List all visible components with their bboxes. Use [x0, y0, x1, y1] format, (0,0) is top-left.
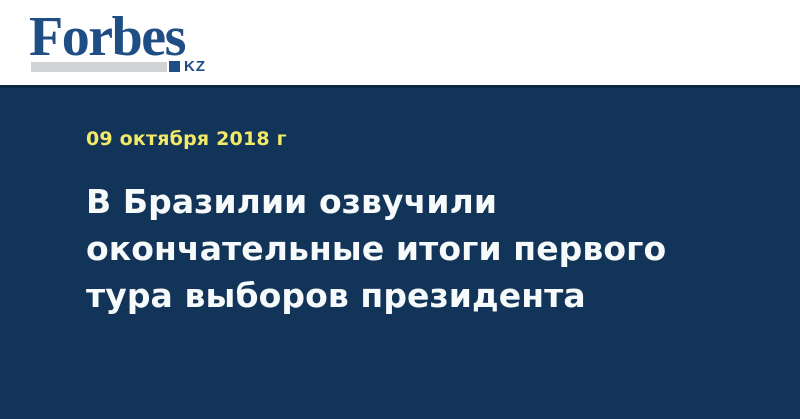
article-hero-page: Forbes KZ 09 октября 2018 г В Бразилии о… — [0, 0, 800, 419]
blue-square-icon — [169, 61, 180, 72]
forbes-kz-logo[interactable]: Forbes KZ — [29, 9, 229, 77]
logo-kz-suffix: KZ — [184, 59, 206, 74]
page-title: В Бразилии озвучили окончательные итоги … — [86, 178, 726, 319]
logo-wordmark: Forbes — [29, 9, 185, 65]
article-date: 09 октября 2018 г — [86, 128, 287, 150]
logo-gray-bar — [31, 62, 167, 72]
article-hero: 09 октября 2018 г В Бразилии озвучили ок… — [0, 88, 800, 419]
site-header: Forbes KZ — [0, 0, 800, 85]
